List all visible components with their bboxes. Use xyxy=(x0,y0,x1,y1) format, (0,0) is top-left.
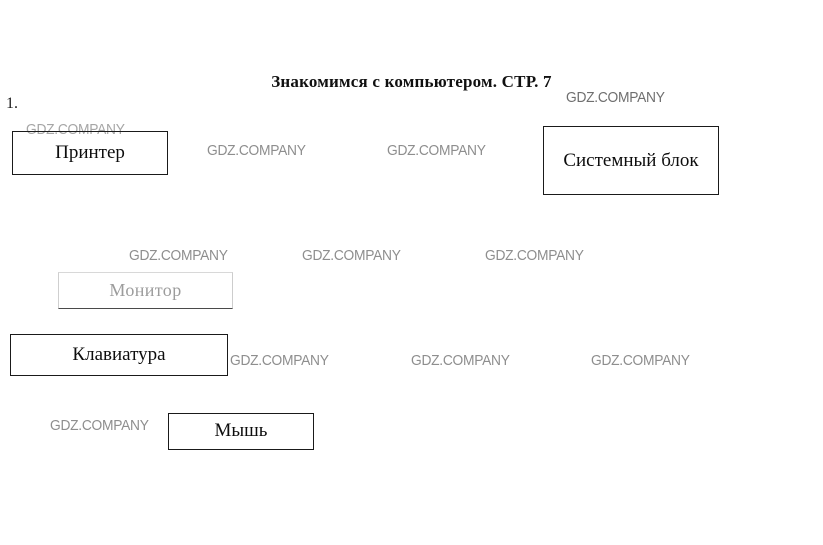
watermark-gdz-company: GDZ.COMPANY xyxy=(230,352,329,369)
worksheet-page: Знакомимся с компьютером. СТР. 7 1. GDZ.… xyxy=(0,0,823,545)
answer-box-keyboard[interactable]: Клавиатура xyxy=(10,334,228,376)
watermark-gdz-company: GDZ.COMPANY xyxy=(591,352,690,369)
watermark-gdz-company: GDZ.COMPANY xyxy=(302,247,401,264)
watermark-gdz-company: GDZ.COMPANY xyxy=(411,352,510,369)
watermark-gdz-company: GDZ.COMPANY xyxy=(50,417,149,434)
answer-box-mouse[interactable]: Мышь xyxy=(168,413,314,450)
watermark-gdz-company: GDZ.COMPANY xyxy=(387,142,486,159)
answer-box-monitor[interactable]: Монитор xyxy=(58,272,233,309)
answer-box-system-unit[interactable]: Системный блок xyxy=(543,126,719,195)
watermark-gdz-company: GDZ.COMPANY xyxy=(129,247,228,264)
page-title: Знакомимся с компьютером. СТР. 7 xyxy=(0,72,823,92)
watermark-gdz-company: GDZ.COMPANY xyxy=(485,247,584,264)
task-number: 1. xyxy=(6,95,18,113)
watermark-gdz-company: GDZ.COMPANY xyxy=(207,142,306,159)
answer-box-printer[interactable]: Принтер xyxy=(12,131,168,175)
